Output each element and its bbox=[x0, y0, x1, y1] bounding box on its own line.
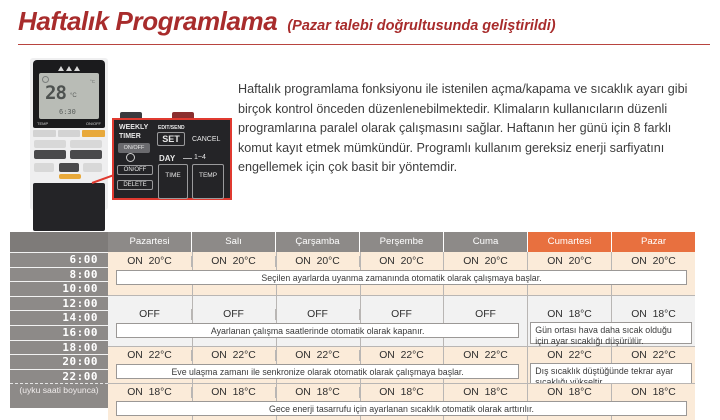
schedule-cell: ON 22°C bbox=[611, 350, 695, 361]
page-subtitle: (Pazar talebi doğrultusunda geliştirildi… bbox=[287, 19, 555, 34]
schedule-cell: OFF bbox=[108, 309, 191, 320]
band-cell-row: ON 18°CON 18°CON 18°CON 18°CON 18°CON 18… bbox=[108, 387, 695, 398]
day-header-row: PazartesiSalıÇarşambaPerşembeCumaCumarte… bbox=[108, 232, 695, 252]
schedule-cell: OFF bbox=[359, 309, 443, 320]
description-paragraph: Haftalık programlama fonksiyonu ile iste… bbox=[238, 80, 700, 178]
schedule-cell: ON 22°C bbox=[275, 350, 359, 361]
schedule-note: Eve ulaşma zamanı ile senkronize olarak … bbox=[116, 364, 519, 379]
remote-keypad-upper[interactable] bbox=[33, 139, 105, 181]
time-column-header bbox=[10, 232, 108, 252]
schedule-band-morning: ON 20°CON 20°CON 20°CON 20°CON 20°CON 20… bbox=[108, 252, 695, 295]
day-header-1: Pazartesi bbox=[108, 232, 191, 252]
weekly-schedule-table: 6:008:0010:0012:0014:0016:0018:0020:0022… bbox=[10, 232, 695, 408]
lcd-small-label: °C bbox=[90, 79, 95, 84]
schedule-cell: OFF bbox=[275, 309, 359, 320]
schedule-cell: ON 20°C bbox=[611, 256, 695, 267]
column-divider bbox=[360, 295, 361, 346]
schedule-note: Ayarlanan çalışma saatlerinde otomatik o… bbox=[116, 323, 519, 338]
day-header-7: Pazar bbox=[611, 232, 695, 252]
schedule-cell: ON 18°C bbox=[527, 309, 611, 320]
schedule-cell: ON 18°C bbox=[527, 387, 611, 398]
callout-title-line1: WEEKLY bbox=[119, 124, 148, 131]
temp-button[interactable]: TEMP bbox=[192, 164, 224, 199]
lcd-temperature: 28 bbox=[45, 82, 66, 104]
column-divider bbox=[276, 295, 277, 346]
column-divider bbox=[527, 346, 528, 383]
weekly-timer-callout: WEEKLY TIMER ON/OFF EDIT/SEND SET CANCEL… bbox=[112, 118, 232, 200]
schedule-cell: ON 20°C bbox=[443, 256, 527, 267]
schedule-cell: ON 22°C bbox=[443, 350, 527, 361]
time-label: 18:00 bbox=[10, 340, 108, 355]
schedule-cell: OFF bbox=[191, 309, 275, 320]
schedule-band-night: ON 18°CON 18°CON 18°CON 18°CON 18°CON 18… bbox=[108, 383, 695, 420]
time-label: 16:00 bbox=[10, 325, 108, 340]
day-header-3: Çarşamba bbox=[275, 232, 359, 252]
schedule-cell: ON 18°C bbox=[611, 309, 695, 320]
callout-onoff-badge[interactable]: ON/OFF bbox=[118, 143, 150, 153]
column-divider bbox=[527, 295, 528, 346]
band-divider bbox=[108, 383, 695, 384]
time-label: 20:00 bbox=[10, 354, 108, 369]
schedule-cell: OFF bbox=[443, 309, 527, 320]
band-divider bbox=[108, 295, 695, 296]
delete-button[interactable]: DELETE bbox=[117, 180, 153, 190]
time-label: 10:00 bbox=[10, 281, 108, 296]
remote-mode-buttons[interactable] bbox=[33, 130, 105, 137]
schedule-cell: ON 18°C bbox=[359, 387, 443, 398]
schedule-cell: ON 18°C bbox=[191, 387, 275, 398]
schedule-cell: ON 22°C bbox=[191, 350, 275, 361]
time-column: 6:008:0010:0012:0014:0016:0018:0020:0022… bbox=[10, 232, 108, 408]
band-cell-row: ON 22°CON 22°CON 22°CON 22°CON 22°CON 22… bbox=[108, 350, 695, 361]
time-label: 22:00 bbox=[10, 369, 108, 384]
callout-edit-send-label: EDIT/SEND bbox=[158, 125, 185, 131]
day-button[interactable]: DAY bbox=[159, 154, 175, 163]
lcd-clock: 6:30 bbox=[59, 108, 76, 116]
sleep-hours-note: (uyku saati boyunca) bbox=[10, 383, 108, 396]
page-root: Haftalık Programlama (Pazar talebi doğru… bbox=[0, 0, 720, 417]
band-cell-row: OFFOFFOFFOFFOFFON 18°CON 18°C bbox=[108, 309, 695, 320]
clock-icon bbox=[126, 153, 135, 162]
page-title: Haftalık Programlama bbox=[18, 8, 277, 34]
remote-control-image: 28 °C °C 6:30 TEMPON/OFF bbox=[30, 58, 108, 210]
set-button[interactable]: SET bbox=[157, 132, 185, 146]
schedule-band-midday: OFFOFFOFFOFFOFFON 18°CON 18°CAyarlanan ç… bbox=[108, 295, 695, 346]
time-label: 6:00 bbox=[10, 252, 108, 267]
schedule-cell: ON 22°C bbox=[108, 350, 191, 361]
time-button[interactable]: TIME bbox=[158, 164, 188, 199]
onoff-button[interactable]: ON/OFF bbox=[117, 165, 153, 175]
schedule-cell: ON 22°C bbox=[527, 350, 611, 361]
header-divider bbox=[18, 44, 710, 45]
schedule-cell: ON 20°C bbox=[108, 256, 191, 267]
page-header: Haftalık Programlama (Pazar talebi doğru… bbox=[18, 8, 708, 42]
remote-lcd: 28 °C °C 6:30 bbox=[39, 73, 99, 119]
schedule-cell: ON 18°C bbox=[275, 387, 359, 398]
schedule-cell: ON 20°C bbox=[275, 256, 359, 267]
day-header-4: Perşembe bbox=[359, 232, 443, 252]
schedule-note: Gece enerji tasarrufu için ayarlanan sıc… bbox=[116, 401, 687, 416]
remote-head-labels: TEMPON/OFF bbox=[37, 121, 101, 126]
day-header-2: Salı bbox=[191, 232, 275, 252]
column-divider bbox=[443, 295, 444, 346]
remote-weekly-timer-panel[interactable] bbox=[33, 183, 105, 231]
band-cell-row: ON 20°CON 20°CON 20°CON 20°CON 20°CON 20… bbox=[108, 256, 695, 267]
time-label: 14:00 bbox=[10, 310, 108, 325]
time-label: 12:00 bbox=[10, 296, 108, 311]
band-divider bbox=[108, 346, 695, 347]
lcd-unit: °C bbox=[70, 93, 77, 99]
schedule-band-evening: ON 22°CON 22°CON 22°CON 22°CON 22°CON 22… bbox=[108, 346, 695, 383]
schedule-cell: ON 18°C bbox=[443, 387, 527, 398]
schedule-cell: ON 20°C bbox=[359, 256, 443, 267]
schedule-cell: ON 22°C bbox=[359, 350, 443, 361]
schedule-note: Gün ortası hava daha sıcak olduğu için a… bbox=[530, 322, 692, 344]
schedule-cell: ON 18°C bbox=[611, 387, 695, 398]
schedule-note: Seçilen ayarlarda uyanma zamanında otoma… bbox=[116, 270, 687, 285]
schedule-cell: ON 20°C bbox=[191, 256, 275, 267]
time-label: 8:00 bbox=[10, 267, 108, 282]
schedule-grid: PazartesiSalıÇarşambaPerşembeCumaCumarte… bbox=[108, 232, 695, 408]
callout-title-line2: TIMER bbox=[119, 133, 141, 140]
schedule-note: Dış sıcaklık düştüğünde tekrar ayar sıca… bbox=[530, 363, 692, 385]
schedule-cell: ON 20°C bbox=[527, 256, 611, 267]
day-range-dash-icon bbox=[183, 158, 192, 159]
day-header-6: Cumartesi bbox=[527, 232, 611, 252]
day-header-5: Cuma bbox=[443, 232, 527, 252]
column-divider bbox=[192, 295, 193, 346]
mitsubishi-logo-icon bbox=[52, 64, 86, 72]
schedule-bands: ON 20°CON 20°CON 20°CON 20°CON 20°CON 20… bbox=[108, 252, 695, 420]
remote-display-head: 28 °C °C 6:30 TEMPON/OFF bbox=[33, 60, 105, 128]
cancel-button[interactable]: CANCEL bbox=[192, 136, 220, 143]
day-range-label: 1~4 bbox=[194, 154, 206, 161]
schedule-cell: ON 18°C bbox=[108, 387, 191, 398]
